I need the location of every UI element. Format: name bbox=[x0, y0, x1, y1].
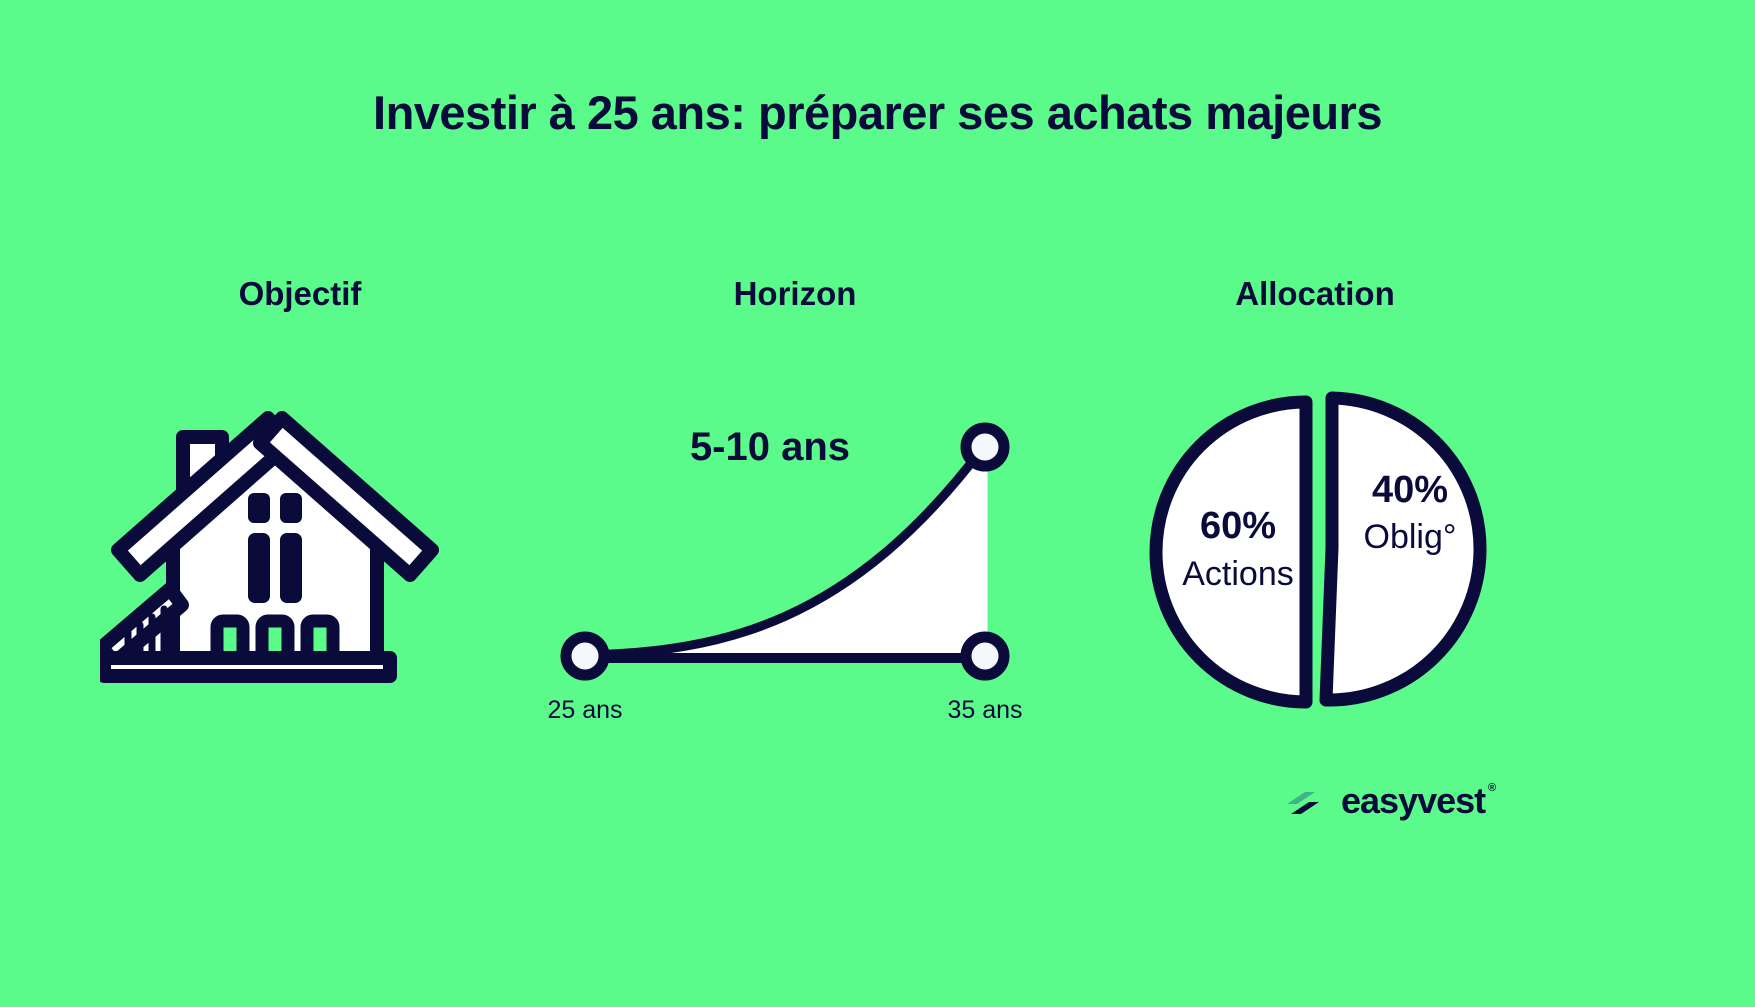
pie-label-actions-name: Actions bbox=[1182, 555, 1294, 593]
horizon-axis-label-start: 25 ans bbox=[547, 696, 622, 724]
column-heading-objectif: Objectif bbox=[75, 275, 525, 313]
easyvest-wordmark: easyvest bbox=[1341, 780, 1485, 821]
easyvest-logo-mark bbox=[1285, 782, 1331, 820]
horizon-growth-chart: 5-10 ans 25 ans 35 ans bbox=[520, 400, 1080, 800]
column-heading-allocation: Allocation bbox=[1090, 275, 1540, 313]
horizon-node-end-bottom bbox=[966, 637, 1004, 675]
allocation-panel: 60% Actions 40% Oblig° bbox=[1120, 380, 1520, 720]
infographic-canvas: Investir à 25 ans: préparer ses achats m… bbox=[0, 0, 1755, 1007]
pie-slice-actions[interactable] bbox=[1156, 402, 1306, 702]
trademark-symbol: ® bbox=[1488, 782, 1495, 794]
easyvest-logo-text: easyvest® bbox=[1341, 780, 1485, 822]
allocation-pie-chart: 60% Actions 40% Oblig° bbox=[1120, 380, 1520, 720]
horizon-node-start bbox=[566, 637, 604, 675]
horizon-area-fill bbox=[585, 445, 985, 655]
horizon-axis-label-end: 35 ans bbox=[947, 696, 1022, 724]
pie-label-actions-percent: 60% bbox=[1200, 505, 1276, 547]
easyvest-logo[interactable]: easyvest® bbox=[1285, 775, 1500, 827]
horizon-node-end-top bbox=[966, 428, 1004, 466]
objectif-panel bbox=[100, 400, 500, 720]
house-base bbox=[104, 658, 390, 676]
page-title: Investir à 25 ans: préparer ses achats m… bbox=[0, 85, 1755, 140]
horizon-value-label: 5-10 ans bbox=[690, 425, 850, 469]
horizon-panel: 5-10 ans 25 ans 35 ans bbox=[520, 400, 1080, 760]
pie-label-obligations-percent: 40% bbox=[1372, 469, 1448, 511]
pie-label-obligations-name: Oblig° bbox=[1364, 518, 1457, 556]
column-heading-horizon: Horizon bbox=[570, 275, 1020, 313]
house-icon bbox=[100, 400, 500, 720]
